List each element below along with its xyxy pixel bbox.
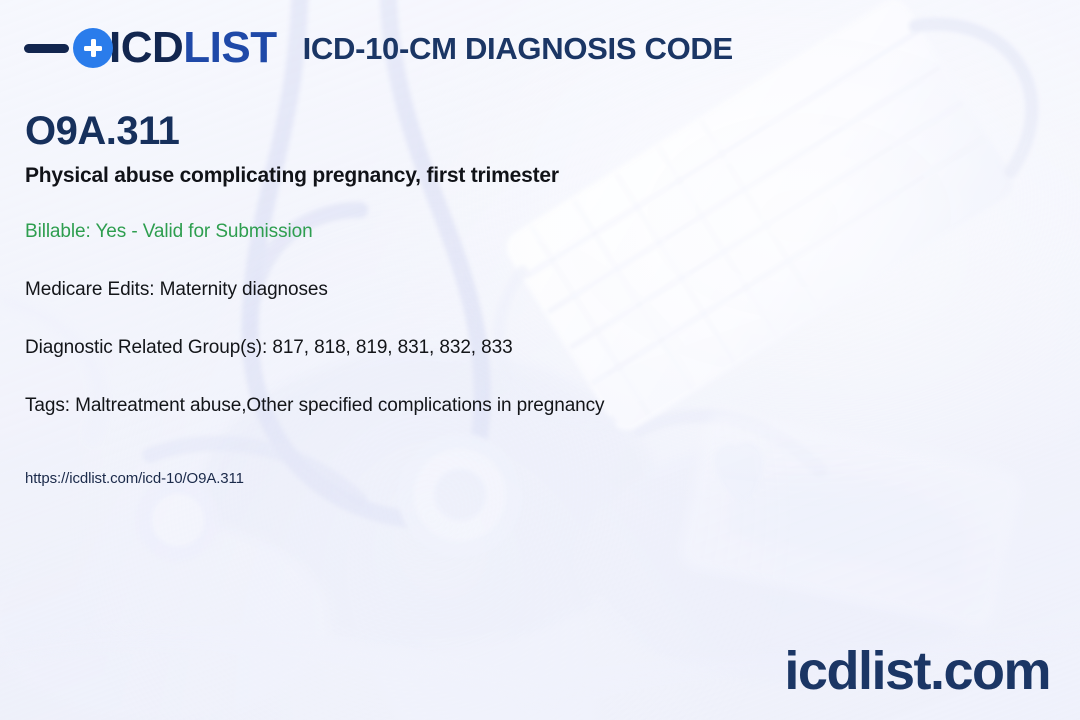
logo-word-list: LIST xyxy=(183,23,276,72)
footer-brand: icdlist.com xyxy=(784,644,1050,698)
page-title: ICD-10-CM DIAGNOSIS CODE xyxy=(303,33,733,64)
tags-line: Tags: Maltreatment abuse,Other specified… xyxy=(25,395,1035,417)
icdlist-logo[interactable]: ICDLIST xyxy=(24,26,277,70)
plus-circle-icon xyxy=(73,28,113,68)
billable-status: Billable: Yes - Valid for Submission xyxy=(25,221,1035,243)
page-header: ICDLIST ICD-10-CM DIAGNOSIS CODE xyxy=(24,26,733,70)
source-url[interactable]: https://icdlist.com/icd-10/O9A.311 xyxy=(25,470,1035,487)
logo-wordmark: ICDLIST xyxy=(109,26,277,70)
medicare-edits: Medicare Edits: Maternity diagnoses xyxy=(25,279,1035,301)
diagnosis-description: Physical abuse complicating pregnancy, f… xyxy=(25,164,1035,188)
diagnostic-related-groups: Diagnostic Related Group(s): 817, 818, 8… xyxy=(25,337,1035,359)
diagnosis-code: O9A.311 xyxy=(25,108,1035,154)
dash-icon xyxy=(24,44,69,53)
code-detail-block: O9A.311 Physical abuse complicating preg… xyxy=(25,108,1035,487)
logo-word-icd: ICD xyxy=(109,23,183,72)
icd-code-card: ICDLIST ICD-10-CM DIAGNOSIS CODE O9A.311… xyxy=(0,0,1080,720)
